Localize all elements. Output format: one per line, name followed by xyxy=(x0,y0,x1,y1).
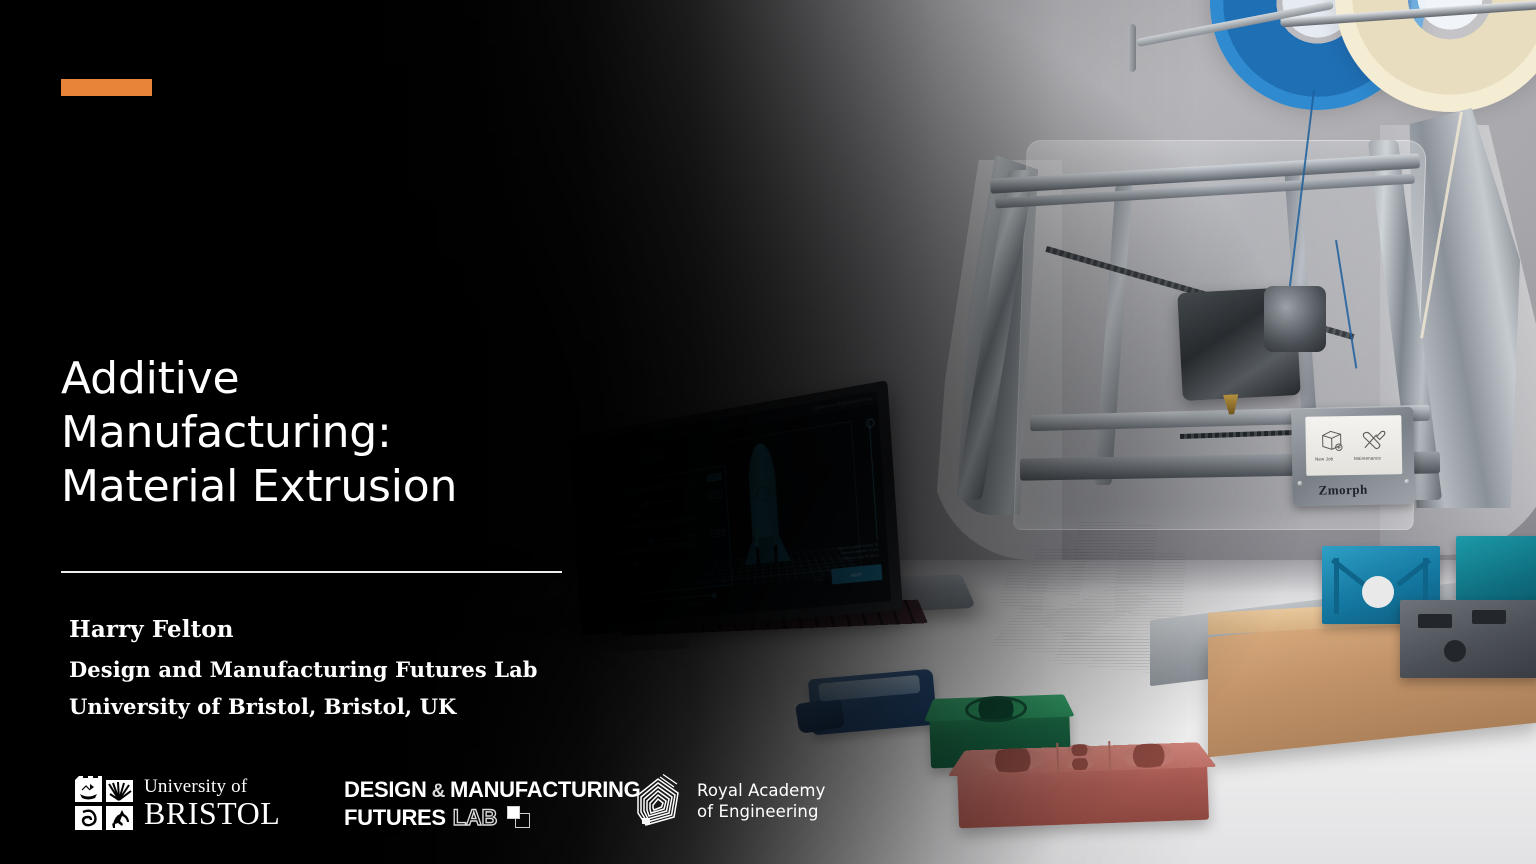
title-line-3: Material Extrusion xyxy=(61,460,581,514)
logo-design-manufacturing-futures-lab: DESIGN & MANUFACTURING FUTURES LAB xyxy=(344,778,640,829)
bristol-line-2: BRISTOL xyxy=(144,797,280,829)
dmf-line-1: DESIGN & MANUFACTURING xyxy=(344,778,640,802)
dmf-word-futures: FUTURES xyxy=(344,806,446,829)
title-line-1: Additive xyxy=(61,352,581,406)
presentation-title-slide: New Job Maintenance Zmorph File Edit Too… xyxy=(0,0,1536,864)
institution-name: University of Bristol, Bristol, UK xyxy=(69,696,629,717)
presenter-name: Harry Felton xyxy=(69,618,629,641)
logo-university-of-bristol: University of BRISTOL xyxy=(73,772,280,834)
rae-spiral-icon xyxy=(630,773,686,831)
dmf-line-2: FUTURES LAB xyxy=(344,806,640,829)
title-line-2: Manufacturing: xyxy=(61,406,581,460)
dmf-word-lab: LAB xyxy=(453,806,497,829)
bristol-line-1: University of xyxy=(144,777,280,796)
dmf-ampersand: & xyxy=(432,782,445,802)
lab-name: Design and Manufacturing Futures Lab xyxy=(69,659,629,680)
dmf-word-manufacturing: MANUFACTURING xyxy=(450,778,640,801)
dmf-word-design: DESIGN xyxy=(344,778,427,801)
accent-bar xyxy=(61,79,152,96)
logo-royal-academy-of-engineering: Royal Academy of Engineering xyxy=(630,773,825,831)
byline: Harry Felton Design and Manufacturing Fu… xyxy=(69,618,629,717)
bristol-crest-icon xyxy=(73,772,135,834)
page-title: Additive Manufacturing: Material Extrusi… xyxy=(61,352,581,514)
rae-wordmark: Royal Academy of Engineering xyxy=(697,781,825,822)
overlapping-squares-icon xyxy=(507,806,533,828)
slide-content: Additive Manufacturing: Material Extrusi… xyxy=(0,0,1536,864)
rae-line-2: of Engineering xyxy=(697,802,825,823)
title-divider xyxy=(61,571,562,573)
rae-line-1: Royal Academy xyxy=(697,781,825,802)
logo-row: University of BRISTOL DESIGN & MANUFACTU… xyxy=(61,770,881,842)
bristol-wordmark: University of BRISTOL xyxy=(144,777,280,829)
